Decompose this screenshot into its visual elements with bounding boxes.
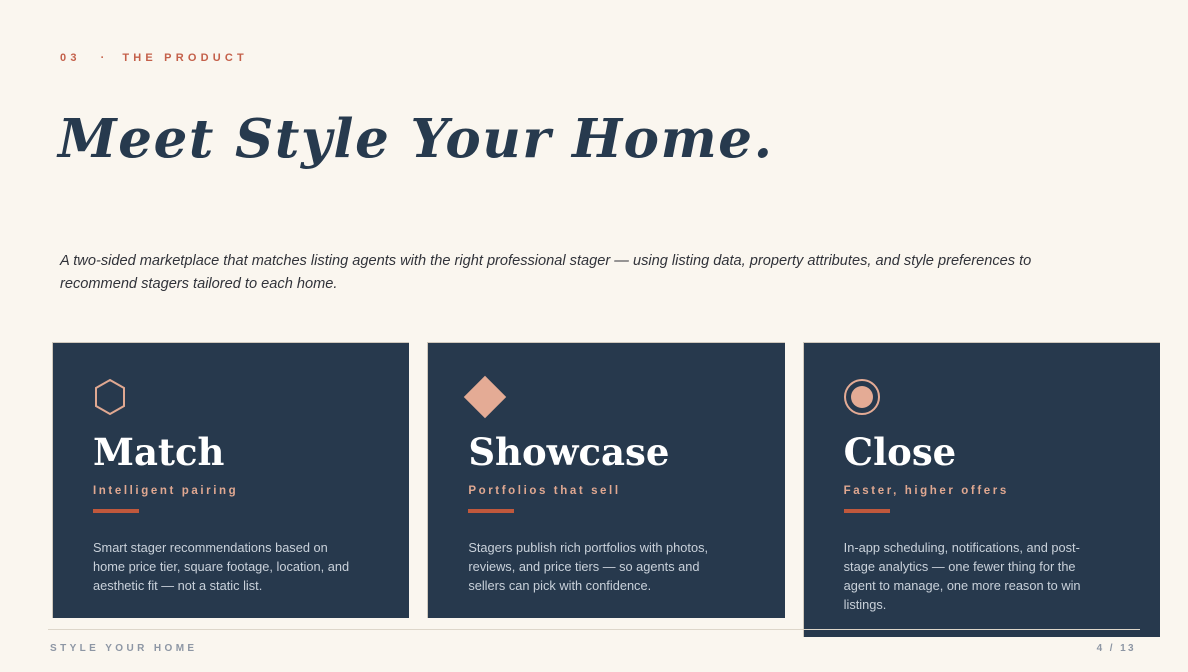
hexagon-outline-icon	[93, 378, 127, 416]
footer-brand: STYLE YOUR HOME	[50, 643, 198, 654]
section-number: 03	[60, 52, 81, 64]
feature-card-match[interactable]: Match Intelligent pairing Smart stager r…	[52, 342, 409, 618]
concentric-circle-icon	[844, 379, 880, 415]
card-title: Close	[844, 433, 1126, 472]
card-icon-wrap	[844, 377, 1126, 417]
feature-card-close[interactable]: Close Faster, higher offers In-app sched…	[803, 342, 1160, 637]
card-body-text: In-app scheduling, notifications, and po…	[844, 539, 1106, 615]
card-icon-wrap	[93, 377, 375, 417]
feature-card-row: Match Intelligent pairing Smart stager r…	[52, 342, 1160, 637]
card-subtitle: Portfolios that sell	[468, 485, 750, 497]
section-eyebrow: 03 · THE PRODUCT	[60, 52, 248, 64]
card-accent-rule	[93, 509, 139, 513]
card-body-text: Smart stager recommendations based on ho…	[93, 539, 355, 596]
slide-canvas: 03 · THE PRODUCT Meet Style Your Home. A…	[0, 0, 1188, 672]
section-label: THE PRODUCT	[122, 52, 248, 64]
feature-card-showcase[interactable]: Showcase Portfolios that sell Stagers pu…	[427, 342, 784, 618]
card-subtitle: Faster, higher offers	[844, 485, 1126, 497]
card-icon-wrap	[468, 377, 750, 417]
card-body-text: Stagers publish rich portfolios with pho…	[468, 539, 730, 596]
diamond-filled-icon	[464, 376, 506, 418]
page-indicator: 4 / 13	[1097, 643, 1136, 654]
footer-divider	[48, 629, 1140, 630]
card-subtitle: Intelligent pairing	[93, 485, 375, 497]
eyebrow-separator-dot: ·	[101, 52, 105, 64]
card-accent-rule	[844, 509, 890, 513]
card-title: Match	[93, 433, 375, 472]
slide-subtitle: A two-sided marketplace that matches lis…	[60, 250, 1045, 295]
page-title: Meet Style Your Home.	[58, 108, 774, 170]
card-title: Showcase	[468, 433, 750, 472]
card-accent-rule	[468, 509, 514, 513]
